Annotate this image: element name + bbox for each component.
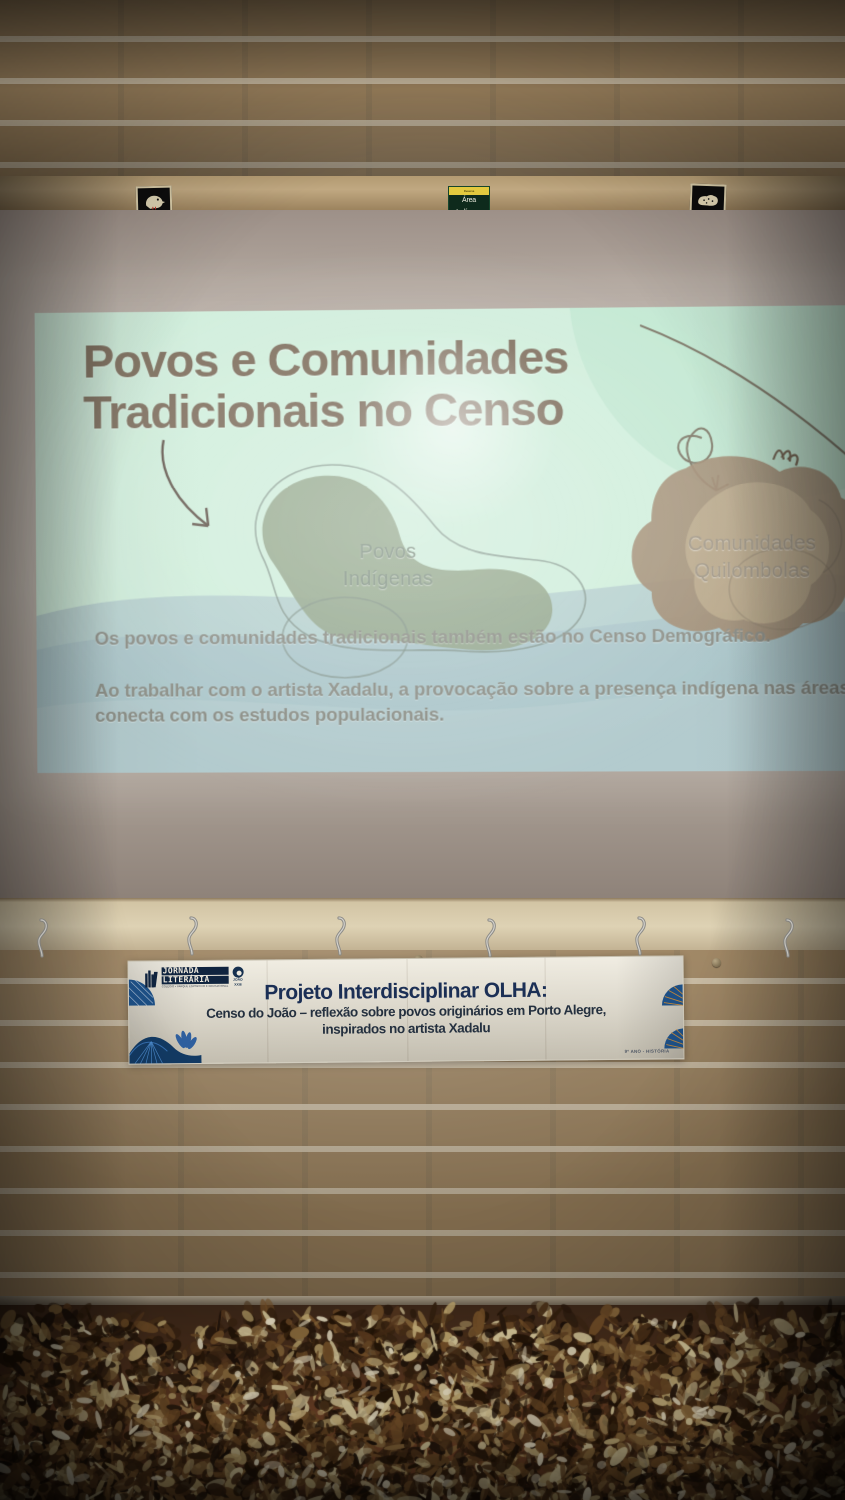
photo-scene: Reserva Área Indígena Povos e Comunidade… — [0, 0, 845, 1500]
blob-quilombolas-label: Comunidades Quilombolas — [637, 530, 845, 586]
slide-arrow-icon — [156, 433, 277, 544]
coat-hook[interactable] — [330, 916, 348, 960]
coat-hook-rail — [0, 898, 845, 950]
slide-title: Povos e Comunidades Tradicionais no Cens… — [83, 332, 569, 438]
coat-hook[interactable] — [778, 918, 796, 962]
projection-wall-surface: Povos e Comunidades Tradicionais no Cens… — [0, 210, 845, 900]
slide-paragraph-2-line1: Ao trabalhar com o artista Xadalu, a pro… — [95, 677, 796, 701]
slide-body-text: Os povos e comunidades tradicionais tamb… — [95, 622, 845, 729]
banner-subtitle-line2: inspirados no artista Xadalu — [183, 1019, 629, 1039]
coat-hook[interactable] — [32, 918, 50, 962]
blob-quilombolas-label-line1: Comunidades — [688, 532, 816, 555]
banner-credit: 9º ANO - HISTÓRIA — [625, 1048, 670, 1053]
projected-slide: Povos e Comunidades Tradicionais no Cens… — [35, 305, 845, 773]
slide-paragraph-2: Ao trabalhar com o artista Xadalu, a pro… — [95, 674, 845, 729]
coat-hook[interactable] — [630, 916, 648, 960]
area-sign-line1: Área — [462, 195, 476, 207]
banner-title: Projeto Interdisciplinar OLHA: — [183, 979, 629, 1005]
blob-quilombolas-label-line2: Quilombolas — [694, 560, 810, 583]
coat-hook[interactable] — [480, 918, 498, 962]
rail-screw — [712, 958, 721, 967]
blob-indigenas-label: Povos Indígenas — [267, 538, 510, 594]
ground-with-leaves — [0, 1296, 845, 1500]
seal-ring-icon — [232, 967, 243, 978]
slide-title-line2: Tradicionais no Censo — [83, 383, 569, 438]
banner-text-block: Projeto Interdisciplinar OLHA: Censo do … — [129, 978, 684, 1040]
blob-indigenas-label-line1: Povos — [359, 541, 416, 563]
coat-hook[interactable] — [182, 916, 200, 960]
slide-title-line1: Povos e Comunidades — [83, 332, 569, 387]
slide-paragraph-1: Os povos e comunidades tradicionais tamb… — [95, 622, 845, 652]
upper-brick-wall — [0, 0, 845, 178]
blob-indigenas-label-line2: Indígenas — [343, 568, 434, 591]
project-banner: JORNADA LITERÁRIA COLÉGIO • PARQUE ESPOR… — [128, 955, 685, 1064]
fallen-leaves — [0, 1296, 845, 1500]
area-sign-header: Reserva — [449, 187, 489, 195]
